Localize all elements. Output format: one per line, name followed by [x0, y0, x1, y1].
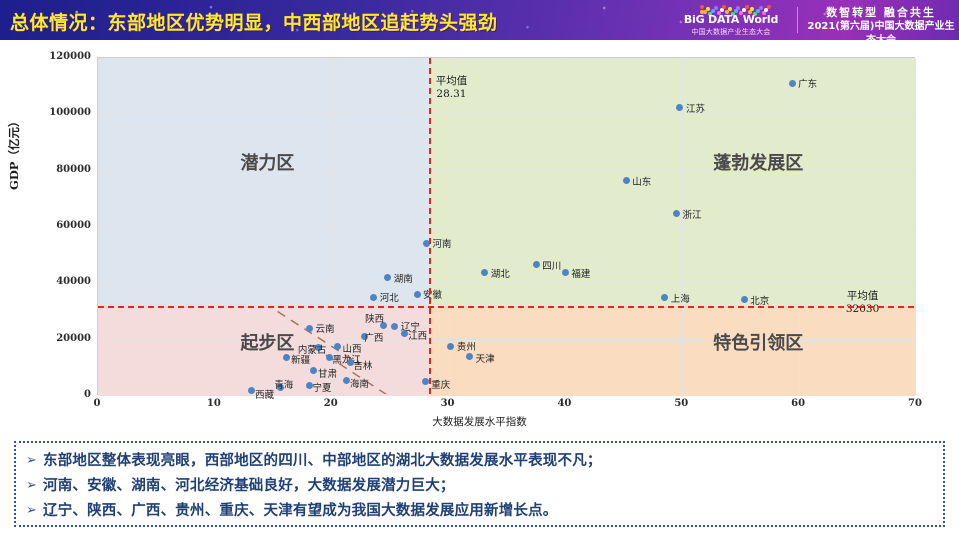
data-point-label: 安徽 — [423, 287, 442, 301]
data-point-label: 江西 — [408, 328, 427, 342]
summary-notes-box: ➢ 东部地区整体表现亮眼，西部地区的四川、中部地区的湖北大数据发展水平表现不凡；… — [14, 441, 945, 527]
data-point-label: 重庆 — [431, 377, 450, 391]
plot-area: 广东江苏山东浙江河南四川湖北福建湖南上海北京安徽河北辽宁陕西江西广西云南山西内蒙… — [97, 57, 915, 395]
data-point — [414, 291, 421, 298]
data-point — [401, 330, 408, 337]
data-point — [466, 353, 473, 360]
header-divider — [797, 7, 798, 33]
data-point-label: 江苏 — [686, 101, 705, 115]
mean-x-annotation: 平均值28.31 — [436, 75, 468, 101]
y-tick-label: 40000 — [39, 276, 91, 287]
y-tick-label: 20000 — [39, 333, 91, 344]
y-axis-label: GDP（亿元） — [6, 116, 22, 190]
x-tick-label: 40 — [544, 398, 584, 409]
data-point — [391, 323, 398, 330]
note-text: 辽宁、陕西、广西、贵州、重庆、天津有望成为我国大数据发展应用新增长点。 — [43, 500, 558, 522]
x-axis-label: 大数据发展水平指数 — [0, 414, 959, 429]
note-text: 河南、安徽、湖南、河北经济基础良好，大数据发展潜力巨大； — [43, 475, 455, 497]
x-tick-label: 50 — [661, 398, 701, 409]
data-point-label: 青海 — [274, 377, 293, 391]
data-point-label: 河北 — [380, 290, 399, 304]
scatter-chart: GDP（亿元） 02000040000600008000010000012000… — [0, 40, 959, 440]
x-tick-label: 70 — [895, 398, 935, 409]
data-point-label: 天津 — [476, 351, 495, 365]
y-axis-ticks: 020000400006000080000100000120000 — [35, 57, 91, 395]
data-point-label: 陕西 — [365, 311, 384, 325]
data-point-label: 湖南 — [394, 271, 413, 285]
conference-info: 数智转型 融合共生 2021(第六届)中国大数据产业生态大会 — [806, 5, 956, 40]
data-point-label: 广东 — [798, 76, 817, 90]
bullet-arrow-icon: ➢ — [26, 500, 43, 522]
conference-name: 2021(第六届)中国大数据产业生态大会 — [806, 20, 956, 40]
data-point — [789, 80, 796, 87]
x-axis-ticks: 010203040506070 — [97, 398, 915, 414]
note-text: 东部地区整体表现亮眼，西部地区的四川、中部地区的湖北大数据发展水平表现不凡； — [43, 450, 602, 472]
mean-x-line — [429, 58, 431, 394]
quadrant-label-booming: 蓬勃发展区 — [713, 149, 803, 175]
logo-sub-text: 中国大数据产业生态大会 — [672, 27, 790, 37]
data-point — [248, 387, 255, 394]
data-point-label: 湖北 — [491, 266, 510, 280]
data-point-label: 福建 — [571, 266, 590, 280]
data-point — [370, 294, 377, 301]
data-point — [310, 367, 317, 374]
y-tick-label: 120000 — [39, 51, 91, 62]
y-tick-label: 60000 — [39, 220, 91, 231]
x-tick-label: 20 — [311, 398, 351, 409]
y-tick-label: 100000 — [39, 107, 91, 118]
data-point — [306, 325, 313, 332]
data-point-label: 河南 — [432, 236, 451, 250]
note-item: ➢ 东部地区整体表现亮眼，西部地区的四川、中部地区的湖北大数据发展水平表现不凡； — [26, 450, 933, 472]
quadrant-label-starting: 起步区 — [240, 329, 294, 355]
data-point-label: 云南 — [316, 321, 335, 335]
data-point-label: 四川 — [542, 258, 561, 272]
data-point-label: 贵州 — [457, 339, 476, 353]
x-tick-label: 30 — [428, 398, 468, 409]
data-point-label: 吉林 — [353, 358, 372, 372]
data-point — [422, 378, 429, 385]
bullet-arrow-icon: ➢ — [26, 475, 43, 497]
page-title: 总体情况：东部地区优势明显，中西部地区追赶势头强劲 — [10, 8, 498, 35]
note-item: ➢ 辽宁、陕西、广西、贵州、重庆、天津有望成为我国大数据发展应用新增长点。 — [26, 500, 933, 522]
mean-y-annotation: 平均值32030 — [846, 290, 879, 316]
y-tick-label: 80000 — [39, 164, 91, 175]
data-point-label: 甘肃 — [318, 366, 337, 380]
x-tick-label: 10 — [194, 398, 234, 409]
data-point — [533, 261, 540, 268]
data-point-label: 浙江 — [682, 207, 701, 221]
data-point — [623, 177, 630, 184]
quadrant-label-featured-leading: 特色引领区 — [713, 329, 803, 355]
data-point-label: 广西 — [364, 330, 383, 344]
bullet-arrow-icon: ➢ — [26, 450, 43, 472]
note-item: ➢ 河南、安徽、湖南、河北经济基础良好，大数据发展潜力巨大； — [26, 475, 933, 497]
data-point-label: 宁夏 — [313, 380, 332, 394]
data-point-label: 海南 — [350, 376, 369, 390]
header-banner: 总体情况：东部地区优势明显，中西部地区追赶势头强劲 BiG DATA World… — [0, 0, 959, 40]
quadrant-label-potential: 潜力区 — [240, 149, 294, 175]
x-tick-label: 60 — [778, 398, 818, 409]
conference-slogan: 数智转型 融合共生 — [806, 5, 956, 20]
mean-y-line — [98, 306, 914, 308]
logo-main-text: BiG DATA World — [672, 13, 790, 26]
data-point-label: 山东 — [632, 174, 651, 188]
x-tick-label: 0 — [77, 398, 117, 409]
bigdata-world-logo: BiG DATA World 中国大数据产业生态大会 — [672, 4, 790, 38]
data-point-label: 上海 — [671, 291, 690, 305]
